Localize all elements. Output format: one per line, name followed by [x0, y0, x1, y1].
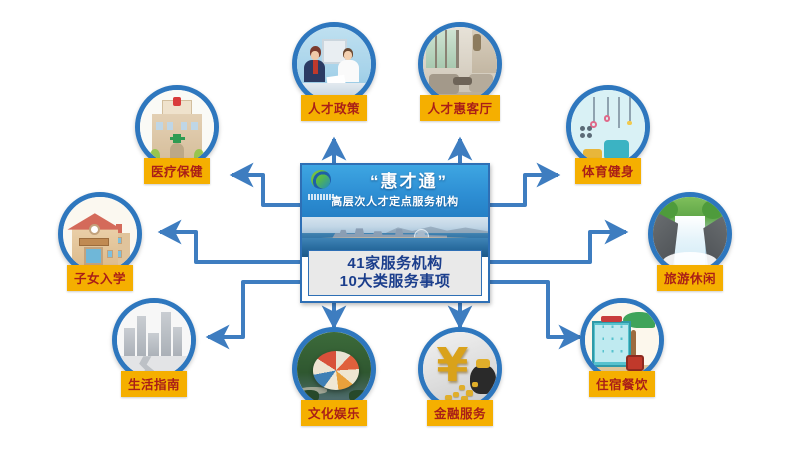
node-label-culture[interactable]: 文化娱乐	[301, 400, 367, 426]
panel-title: “惠才通”	[334, 167, 484, 192]
node-tourism[interactable]: 旅游休闲	[648, 192, 732, 291]
connector-living-guide	[208, 282, 300, 337]
node-culture[interactable]: 文化娱乐	[292, 327, 376, 426]
node-healthcare[interactable]: 医疗保健	[135, 85, 219, 184]
connector-healthcare	[232, 175, 300, 205]
stat-line-1: 41家服务机构	[347, 256, 442, 273]
panel-subtitle: 高层次人才定点服务机构	[306, 193, 484, 209]
yen-money-icon: ¥	[418, 327, 502, 411]
node-living-guide[interactable]: 生活指南	[112, 298, 196, 397]
hotel-icon	[580, 298, 664, 382]
school-icon	[58, 192, 142, 276]
stat-line-2: 10大类服务事项	[340, 274, 451, 291]
node-label-accommodation[interactable]: 住宿餐饮	[589, 371, 655, 397]
node-label-healthcare[interactable]: 医疗保健	[144, 158, 210, 184]
waterfall-icon	[648, 192, 732, 276]
connector-sports	[490, 175, 558, 205]
diagram-canvas: “惠才通” 高层次人才定点服务机构 41家服务机构 10大类服务事项	[0, 0, 798, 466]
gym-equipment-icon	[566, 85, 650, 169]
node-accommodation[interactable]: 住宿餐饮	[580, 298, 664, 397]
connector-accommodation	[490, 282, 580, 337]
amusement-park-icon	[292, 327, 376, 411]
cityscape-icon	[112, 298, 196, 382]
node-label-talent-lounge[interactable]: 人才惠客厅	[420, 95, 499, 121]
node-talent-policy[interactable]: 人才政策	[292, 22, 376, 121]
node-finance[interactable]: ¥ 金融服务	[418, 327, 502, 426]
node-label-finance[interactable]: 金融服务	[427, 400, 493, 426]
stats-box: 41家服务机构 10大类服务事项	[308, 250, 482, 296]
node-label-tourism[interactable]: 旅游休闲	[657, 265, 723, 291]
connector-children-school	[160, 232, 300, 262]
center-panel: “惠才通” 高层次人才定点服务机构 41家服务机构 10大类服务事项	[300, 163, 490, 303]
node-talent-lounge[interactable]: 人才惠客厅	[418, 22, 502, 121]
node-label-living-guide[interactable]: 生活指南	[121, 371, 187, 397]
node-label-sports[interactable]: 体育健身	[575, 158, 641, 184]
service-counter-icon	[292, 22, 376, 106]
node-children-school[interactable]: 子女入学	[58, 192, 142, 291]
node-label-talent-policy[interactable]: 人才政策	[301, 95, 367, 121]
hospital-icon	[135, 85, 219, 169]
node-sports[interactable]: 体育健身	[566, 85, 650, 184]
panel-header: “惠才通” 高层次人才定点服务机构	[302, 165, 488, 217]
connector-tourism	[490, 232, 626, 262]
node-label-children-school[interactable]: 子女入学	[67, 265, 133, 291]
lounge-interior-icon	[418, 22, 502, 106]
